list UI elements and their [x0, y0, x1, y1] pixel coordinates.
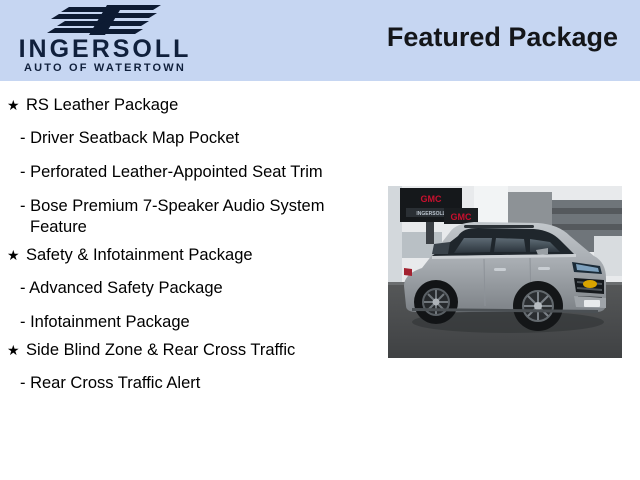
svg-text:INGERSOLL: INGERSOLL	[416, 211, 445, 217]
feature-item: - Advanced Safety Package	[0, 278, 368, 299]
feature-group-title: ★ Side Blind Zone & Rear Cross Traffic	[0, 340, 372, 360]
page-title: Featured Package	[387, 22, 618, 53]
star-bullet-icon: ★	[7, 95, 20, 115]
feature-group-label: Safety & Infotainment Package	[26, 246, 253, 264]
feature-group-label: RS Leather Package	[26, 96, 178, 114]
feature-group-title: ★ RS Leather Package	[0, 95, 372, 115]
feature-group: ★ Side Blind Zone & Rear Cross Traffic -…	[0, 340, 372, 394]
feature-item: - Bose Premium 7-Speaker Audio System Fe…	[0, 196, 368, 238]
feature-group-title: ★ Safety & Infotainment Package	[0, 245, 372, 265]
feature-list: ★ RS Leather Package - Driver Seatback M…	[0, 88, 372, 394]
feature-item: - Rear Cross Traffic Alert	[0, 373, 368, 394]
star-bullet-icon: ★	[7, 340, 20, 360]
brand-subtitle: AUTO OF WATERTOWN	[0, 62, 210, 75]
feature-group: ★ RS Leather Package - Driver Seatback M…	[0, 95, 372, 238]
feature-group: ★ Safety & Infotainment Package - Advanc…	[0, 245, 372, 333]
feature-item: - Perforated Leather-Appointed Seat Trim	[0, 162, 368, 183]
dealer-brand-logo: INGERSOLL AUTO OF WATERTOWN	[0, 2, 210, 80]
feature-item: - Driver Seatback Map Pocket	[0, 128, 368, 149]
svg-text:GMC: GMC	[421, 194, 442, 204]
feature-item: - Infotainment Package	[0, 312, 368, 333]
ingersoll-wing-emblem	[45, 3, 165, 37]
page-header: INGERSOLL AUTO OF WATERTOWN Featured Pac…	[0, 0, 640, 81]
feature-group-label: Side Blind Zone & Rear Cross Traffic	[26, 341, 295, 359]
vehicle-photo-image: GMC INGERSOLL GMC	[388, 186, 622, 358]
brand-name: INGERSOLL	[0, 36, 210, 62]
star-bullet-icon: ★	[7, 245, 20, 265]
vehicle-photo: GMC INGERSOLL GMC	[388, 186, 622, 358]
svg-text:GMC: GMC	[451, 212, 472, 222]
